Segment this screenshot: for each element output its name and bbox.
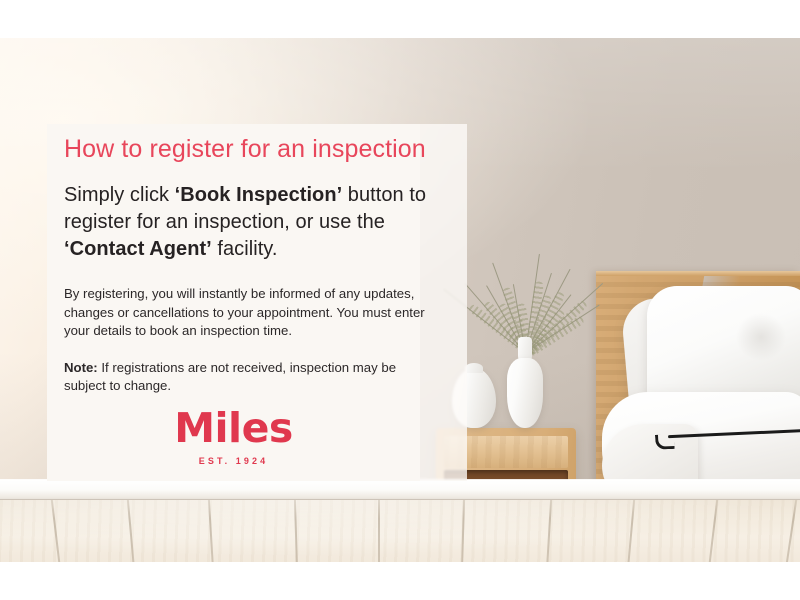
note-paragraph: Note: If registrations are not received,… [64,359,436,396]
wood-floor [0,500,800,562]
logo-wordmark: Miles [47,406,420,450]
tall-white-vase [507,358,543,428]
bed-headboard-top-edge [596,271,800,276]
lede-paragraph: Simply click ‘Book Inspection’ button to… [64,182,454,263]
screenshot-frame: How to register for an inspection Simply… [0,0,800,600]
contact-agent-emphasis: ‘Contact Agent’ [64,238,212,260]
lede-part-1: Simply click [64,184,175,206]
miles-logo: Miles EST. 1924 [47,406,420,466]
skirting-board [0,480,800,502]
lede-part-3: facility. [212,238,278,260]
book-inspection-emphasis: ‘Book Inspection’ [175,184,343,206]
bedroom-scene: How to register for an inspection Simply… [0,38,800,562]
note-text: If registrations are not received, inspe… [64,360,396,394]
note-label: Note: [64,360,98,375]
logo-tagline: EST. 1924 [47,456,420,466]
card-copy: How to register for an inspection Simply… [64,132,456,396]
floor-plank-seam [378,500,380,562]
body-paragraph: By registering, you will instantly be in… [64,285,436,341]
floor-sheen [0,500,800,562]
page-title: How to register for an inspection [64,132,456,166]
